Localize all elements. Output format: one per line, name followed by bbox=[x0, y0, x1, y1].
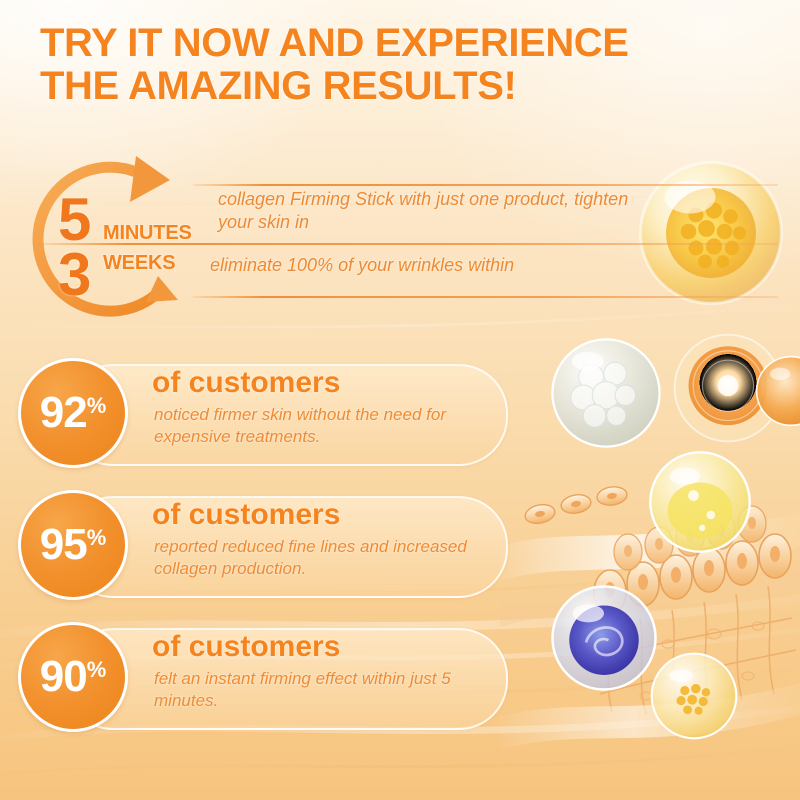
timer-text-weeks: eliminate 100% of your wrinkles within bbox=[210, 254, 680, 277]
timer-unit-weeks: WEEKS bbox=[103, 252, 175, 275]
stat-body-text: reported reduced fine lines and increase… bbox=[154, 536, 504, 581]
page-title: TRY IT NOW AND EXPERIENCE THE AMAZING RE… bbox=[40, 22, 760, 108]
percent-symbol-icon: % bbox=[87, 527, 107, 549]
clear-bubble-cluster-sphere-icon bbox=[549, 336, 663, 450]
stat-percent-badge: 90 % bbox=[18, 622, 128, 732]
stat-body-text: felt an instant firming effect within ju… bbox=[154, 668, 504, 713]
timer-number-weeks: 3 bbox=[58, 245, 91, 305]
stat-heading: of customers bbox=[152, 368, 340, 398]
stat-body-text: noticed firmer skin without the need for… bbox=[154, 404, 504, 449]
stat-row: 90 % of customers felt an instant firmin… bbox=[12, 622, 512, 734]
stat-percent-badge: 95 % bbox=[18, 490, 128, 600]
timer-text-minutes: collagen Firming Stick with just one pro… bbox=[218, 188, 638, 234]
percent-symbol-icon: % bbox=[87, 395, 107, 417]
stat-row: 95 % of customers reported reduced fine … bbox=[12, 490, 512, 602]
edge-orange-sphere-icon bbox=[752, 352, 800, 430]
timer-rule-top bbox=[193, 184, 778, 186]
blue-swirl-droplet-icon bbox=[548, 582, 660, 694]
stat-percent-badge: 92 % bbox=[18, 358, 128, 468]
stat-percent-value: 95 bbox=[40, 523, 87, 567]
headline-line-2: THE AMAZING RESULTS! bbox=[40, 65, 760, 108]
yellow-serum-droplet-icon bbox=[646, 448, 754, 556]
stat-heading: of customers bbox=[152, 500, 340, 530]
percent-symbol-icon: % bbox=[87, 659, 107, 681]
timer-rule-bottom bbox=[193, 296, 778, 298]
infographic-canvas: TRY IT NOW AND EXPERIENCE THE AMAZING RE… bbox=[0, 0, 800, 800]
headline-line-1: TRY IT NOW AND EXPERIENCE bbox=[40, 22, 760, 65]
stat-percent-value: 90 bbox=[40, 655, 87, 699]
timer-unit-minutes: MINUTES bbox=[103, 222, 192, 245]
honeycomb-small-sphere-icon bbox=[648, 650, 740, 742]
stat-row: 92 % of customers noticed firmer skin wi… bbox=[12, 358, 512, 470]
stat-percent-value: 92 bbox=[40, 391, 87, 435]
stat-heading: of customers bbox=[152, 632, 340, 662]
timer-section: 5 MINUTES collagen Firming Stick with ju… bbox=[18, 150, 778, 330]
